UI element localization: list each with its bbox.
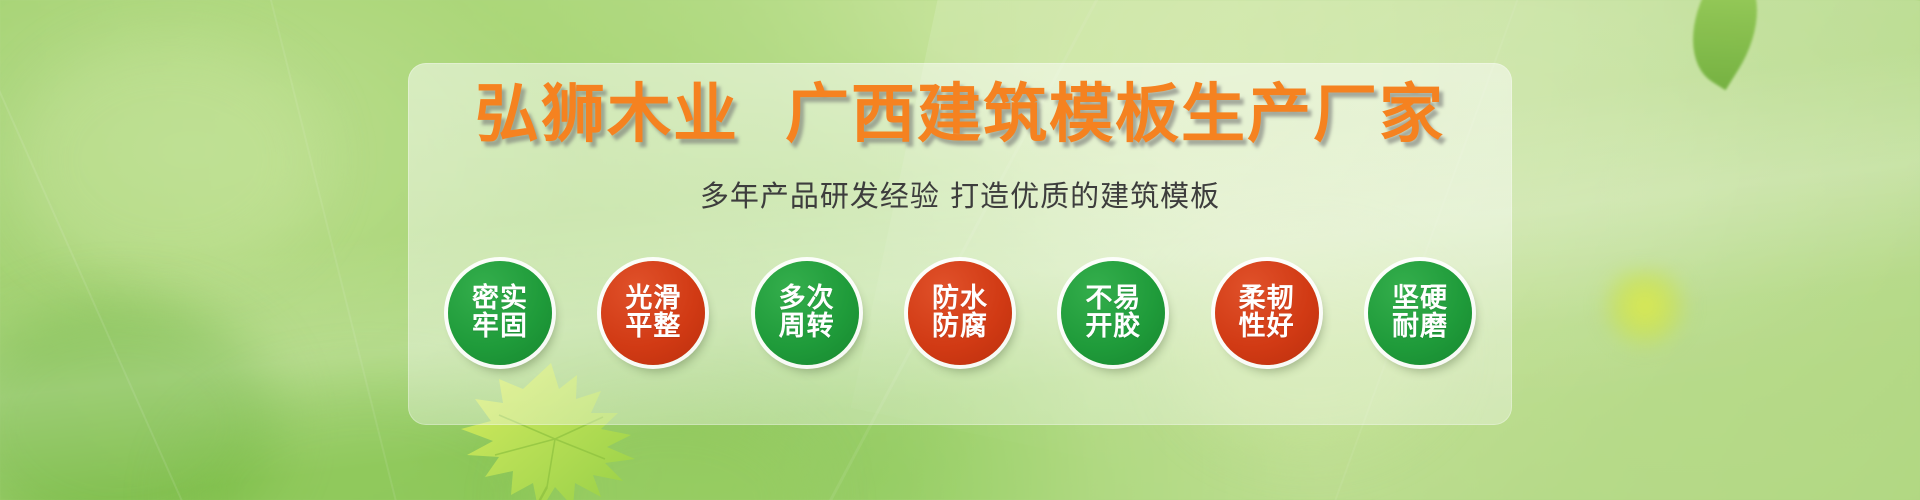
badge-line-1: 防水 [932, 285, 988, 313]
badge-line-1: 不易 [1085, 285, 1141, 313]
banner-stage: 弘狮木业广西建筑模板生产厂家 多年产品研发经验 打造优质的建筑模板 密实 牢固 … [0, 0, 1920, 500]
badge-line-2: 平整 [625, 313, 681, 341]
background-blob [20, 40, 320, 280]
page-subtitle: 多年产品研发经验 打造优质的建筑模板 [408, 173, 1512, 215]
feature-badge-jianying-naimo: 坚硬 耐磨 [1368, 261, 1472, 365]
badge-line-2: 防腐 [932, 313, 988, 341]
feature-badge-rouren-xinghao: 柔韧 性好 [1215, 261, 1319, 365]
company-name: 弘狮木业 [475, 78, 739, 152]
page-title: 弘狮木业广西建筑模板生产厂家 [408, 83, 1512, 147]
badge-line-1: 坚硬 [1392, 285, 1448, 313]
leaf-highlight-glow [1600, 270, 1690, 350]
feature-badge-duoci-zhouzhuan: 多次 周转 [755, 261, 859, 365]
feature-badge-mishi-laogu: 密实 牢固 [448, 261, 552, 365]
feature-badge-list: 密实 牢固 光滑 平整 多次 周转 防水 防腐 不易 开胶 柔韧 性好 [448, 233, 1472, 393]
feature-badge-buyi-kaijiao: 不易 开胶 [1061, 261, 1165, 365]
badge-line-1: 密实 [472, 285, 528, 313]
badge-line-1: 光滑 [625, 285, 681, 313]
badge-line-2: 性好 [1239, 313, 1295, 341]
content-card: 弘狮木业广西建筑模板生产厂家 多年产品研发经验 打造优质的建筑模板 密实 牢固 … [408, 63, 1512, 425]
badge-line-2: 牢固 [472, 313, 528, 341]
badge-line-1: 柔韧 [1239, 285, 1295, 313]
badge-line-2: 耐磨 [1392, 313, 1448, 341]
badge-line-1: 多次 [779, 285, 835, 313]
title-tagline: 广西建筑模板生产厂家 [785, 78, 1445, 152]
badge-line-2: 周转 [779, 313, 835, 341]
badge-line-2: 开胶 [1085, 313, 1141, 341]
feature-badge-guanghua-pingzheng: 光滑 平整 [601, 261, 705, 365]
feature-badge-fangshui-fangfu: 防水 防腐 [908, 261, 1012, 365]
